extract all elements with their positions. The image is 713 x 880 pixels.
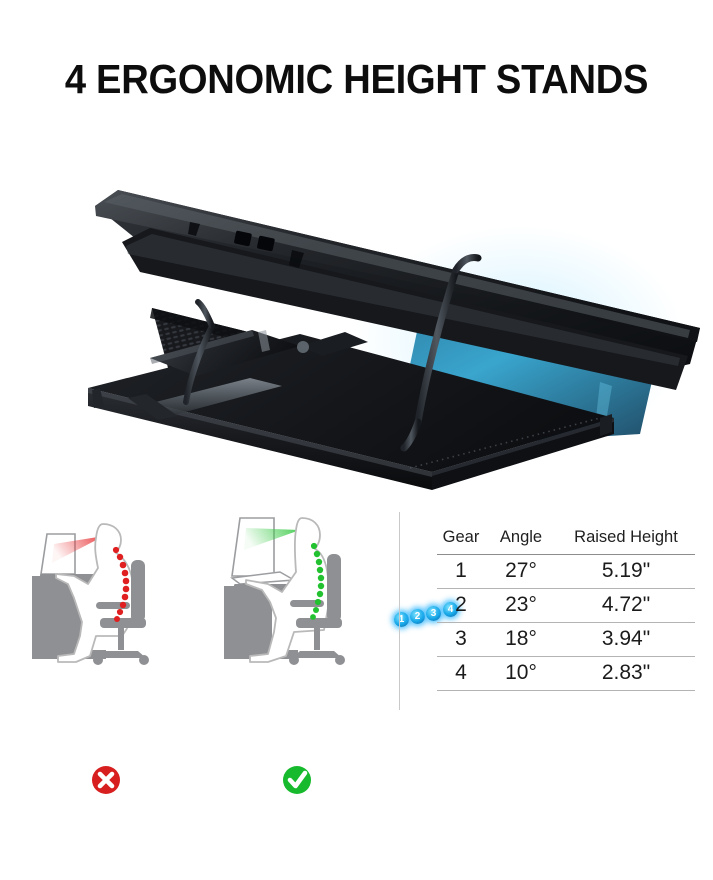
chair-base-good <box>292 651 342 658</box>
cell-gear: 4 <box>437 657 485 691</box>
chair-back-bad <box>131 560 145 622</box>
table-row: 3 18° 3.94" <box>437 623 695 657</box>
table-row: 4 10° 2.83" <box>437 657 695 691</box>
cell-gear: 3 <box>437 623 485 657</box>
cell-angle: 27° <box>485 555 557 589</box>
chair-column-bad <box>118 628 124 650</box>
cell-gear: 2 <box>437 589 485 623</box>
cell-height: 2.83" <box>557 657 695 691</box>
chair-base-bad <box>96 651 146 658</box>
cell-height: 3.94" <box>557 623 695 657</box>
cell-height: 4.72" <box>557 589 695 623</box>
table-header-row: Gear Angle Raised Height <box>437 528 695 555</box>
table-row: 2 23° 4.72" <box>437 589 695 623</box>
section-divider <box>399 512 400 710</box>
cell-gear: 1 <box>437 555 485 589</box>
chair-wheel-left-good <box>289 655 299 665</box>
page-title: 4 ERGONOMIC HEIGHT STANDS <box>25 56 688 102</box>
cell-angle: 23° <box>485 589 557 623</box>
product-image: 1 2 3 4 <box>0 150 713 500</box>
check-icon <box>283 766 311 794</box>
badge-good <box>210 680 400 880</box>
product-illustration <box>0 150 713 500</box>
chair-wheel-right-good <box>335 655 345 665</box>
column-header-gear: Gear <box>437 528 485 555</box>
chair-wheel-right-bad <box>139 655 149 665</box>
cell-height: 5.19" <box>557 555 695 589</box>
table-header: Gear Angle Raised Height <box>437 528 695 555</box>
posture-bad-illustration <box>18 510 208 710</box>
posture-good-illustration <box>210 510 400 710</box>
column-header-angle: Angle <box>485 528 557 555</box>
cell-angle: 18° <box>485 623 557 657</box>
column-header-height: Raised Height <box>557 528 695 555</box>
badge-bad <box>18 680 208 880</box>
chair-wheel-left-bad <box>93 655 103 665</box>
desk-pedestal <box>224 590 272 658</box>
chair-seat-good <box>296 618 342 628</box>
cell-angle: 10° <box>485 657 557 691</box>
support-arm-pivot <box>297 341 309 353</box>
chair-seat-bad <box>100 618 146 628</box>
chair-column-good <box>314 628 320 650</box>
infographic-page: 4 ERGONOMIC HEIGHT STANDS <box>0 0 713 713</box>
laptop-screen-raised <box>232 518 274 576</box>
table-row: 1 27° 5.19" <box>437 555 695 589</box>
gear-spec-table: Gear Angle Raised Height 1 27° 5.19" 2 2… <box>437 528 695 691</box>
chair-back-good <box>327 554 341 622</box>
table-body: 1 27° 5.19" 2 23° 4.72" 3 18° 3.94" 4 10… <box>437 555 695 691</box>
